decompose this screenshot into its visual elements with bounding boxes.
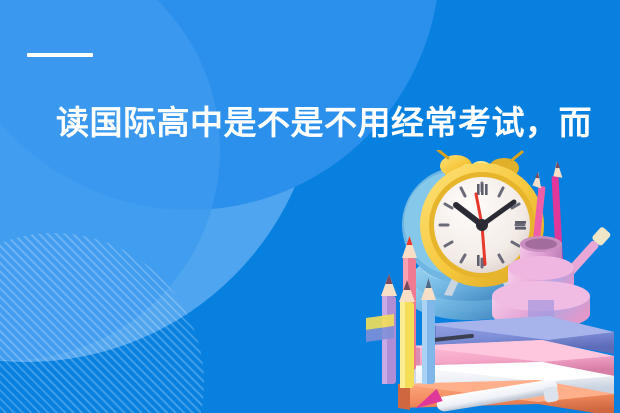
banner-headline: 读国际高中是不是不用经常考试，而 [56,102,616,143]
study-supplies-illustration [352,150,620,413]
title-divider-rule [27,53,93,57]
promo-banner: 读国际高中是不是不用经常考试，而 [0,0,620,413]
pencil-blue [421,278,436,384]
pencil-yellow [399,280,415,388]
